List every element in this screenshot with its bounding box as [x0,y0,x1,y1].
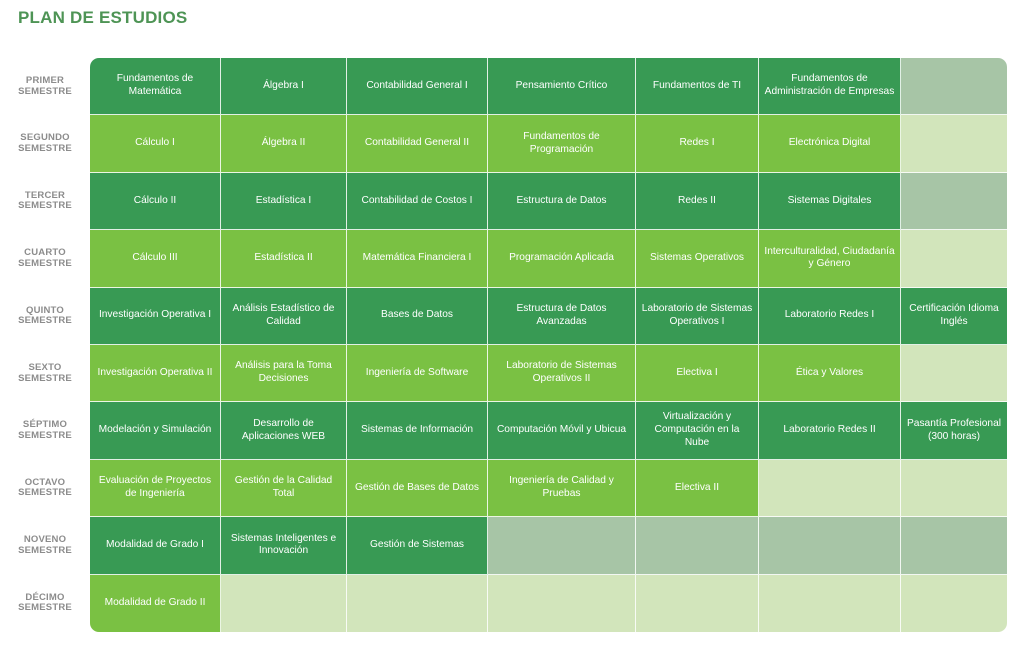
empty-cell [901,173,1007,230]
course-name: Análisis para la Toma Decisiones [226,360,341,386]
course-name: Estructura de Datos [516,195,606,208]
semester-row: SÉPTIMOSEMESTREModelación y SimulaciónDe… [0,402,1007,459]
semester-label: OCTAVOSEMESTRE [0,460,90,517]
course-cell[interactable]: Laboratorio Redes I [759,288,901,345]
semester-row: NOVENOSEMESTREModalidad de Grado ISistem… [0,517,1007,574]
course-name: Fundamentos de TI [653,80,741,93]
semester-courses: Evaluación de Proyectos de IngenieríaGes… [90,460,1007,517]
course-cell[interactable]: Ingeniería de Software [347,345,488,402]
course-cell[interactable]: Fundamentos de Programación [488,115,636,172]
semester-courses: Investigación Operativa IIAnálisis para … [90,345,1007,402]
curriculum-matrix: PRIMERSEMESTREFundamentos de MatemáticaÁ… [0,58,1024,634]
semester-row: SEGUNDOSEMESTRECálculo IÁlgebra IIContab… [0,115,1007,172]
semester-label-line2: SEMESTRE [18,488,72,499]
course-name: Pensamiento Crítico [516,80,608,93]
semester-courses: Cálculo IIIEstadística IIMatemática Fina… [90,230,1007,287]
course-cell[interactable]: Estadística II [221,230,347,287]
course-name: Laboratorio de Sistemas Operativos I [641,303,753,329]
course-name: Matemática Financiera I [363,252,472,265]
course-cell[interactable]: Ética y Valores [759,345,901,402]
empty-cell [759,517,901,574]
course-name: Pasantía Profesional (300 horas) [906,418,1002,444]
empty-cell [901,460,1007,517]
course-name: Sistemas de Información [361,424,473,437]
semester-label-line2: SEMESTRE [18,603,72,614]
course-cell[interactable]: Bases de Datos [347,288,488,345]
semester-row: TERCERSEMESTRECálculo IIEstadística ICon… [0,173,1007,230]
course-name: Álgebra II [262,137,306,150]
course-name: Análisis Estadístico de Calidad [226,303,341,329]
course-name: Laboratorio Redes II [783,424,875,437]
course-name: Ingeniería de Software [366,367,469,380]
course-cell[interactable]: Modelación y Simulación [90,402,221,459]
empty-cell [901,345,1007,402]
course-name: Computación Móvil y Ubicua [497,424,626,437]
semester-label: PRIMERSEMESTRE [0,58,90,115]
semester-label: SEGUNDOSEMESTRE [0,115,90,172]
course-cell[interactable]: Contabilidad General II [347,115,488,172]
course-name: Gestión de Sistemas [370,539,464,552]
semester-row: DÉCIMOSEMESTREModalidad de Grado II [0,575,1007,632]
course-name: Virtualización y Computación en la Nube [641,411,753,449]
semester-label-line2: SEMESTRE [18,316,72,327]
course-cell[interactable]: Desarrollo de Aplicaciones WEB [221,402,347,459]
semester-row: OCTAVOSEMESTREEvaluación de Proyectos de… [0,460,1007,517]
empty-cell [221,575,347,632]
semester-courses: Cálculo IÁlgebra IIContabilidad General … [90,115,1007,172]
course-name: Modalidad de Grado II [105,597,206,610]
course-name: Sistemas Inteligentes e Innovación [226,533,341,559]
course-cell[interactable]: Álgebra II [221,115,347,172]
course-name: Electrónica Digital [789,137,871,150]
course-cell[interactable]: Gestión de Sistemas [347,517,488,574]
semester-row: QUINTOSEMESTREInvestigación Operativa IA… [0,288,1007,345]
course-name: Fundamentos de Programación [493,131,630,157]
course-cell[interactable]: Gestión de la Calidad Total [221,460,347,517]
semester-label: SEXTOSEMESTRE [0,345,90,402]
course-name: Electiva II [675,482,719,495]
course-cell[interactable]: Investigación Operativa I [90,288,221,345]
semester-label: CUARTOSEMESTRE [0,230,90,287]
course-cell[interactable]: Estadística I [221,173,347,230]
course-name: Estadística I [256,195,312,208]
course-cell[interactable]: Cálculo II [90,173,221,230]
course-name: Evaluación de Proyectos de Ingeniería [95,475,215,501]
semester-label-line2: SEMESTRE [18,144,72,155]
course-cell[interactable]: Laboratorio de Sistemas Operativos I [636,288,759,345]
empty-cell [901,575,1007,632]
semester-label: SÉPTIMOSEMESTRE [0,402,90,459]
semester-courses: Fundamentos de MatemáticaÁlgebra IContab… [90,58,1007,115]
course-cell[interactable]: Modalidad de Grado II [90,575,221,632]
course-name: Estadística II [254,252,312,265]
course-cell[interactable]: Computación Móvil y Ubicua [488,402,636,459]
empty-cell [759,575,901,632]
semester-label: DÉCIMOSEMESTRE [0,575,90,632]
empty-cell [901,58,1007,115]
course-name: Redes II [678,195,716,208]
course-cell[interactable]: Redes II [636,173,759,230]
course-name: Electiva I [676,367,717,380]
semester-label: TERCERSEMESTRE [0,173,90,230]
course-name: Modalidad de Grado I [106,539,204,552]
course-name: Ingeniería de Calidad y Pruebas [493,475,630,501]
course-name: Laboratorio de Sistemas Operativos II [493,360,630,386]
course-name: Cálculo II [134,195,176,208]
course-name: Contabilidad General II [365,137,469,150]
course-cell[interactable]: Matemática Financiera I [347,230,488,287]
course-name: Contabilidad General I [366,80,467,93]
course-cell[interactable]: Interculturalidad, Ciudadanía y Género [759,230,901,287]
course-cell[interactable]: Electiva I [636,345,759,402]
course-name: Cálculo I [135,137,175,150]
semester-row: SEXTOSEMESTREInvestigación Operativa IIA… [0,345,1007,402]
course-name: Certificación Idioma Inglés [906,303,1002,329]
course-cell[interactable]: Electiva II [636,460,759,517]
semester-courses: Investigación Operativa IAnálisis Estadí… [90,288,1007,345]
course-cell[interactable]: Laboratorio de Sistemas Operativos II [488,345,636,402]
semester-label-line2: SEMESTRE [18,259,72,270]
course-cell[interactable]: Evaluación de Proyectos de Ingeniería [90,460,221,517]
course-cell[interactable]: Álgebra I [221,58,347,115]
course-name: Cálculo III [132,252,177,265]
course-cell[interactable]: Sistemas Inteligentes e Innovación [221,517,347,574]
course-cell[interactable]: Análisis Estadístico de Calidad [221,288,347,345]
empty-cell [901,517,1007,574]
course-cell[interactable]: Electrónica Digital [759,115,901,172]
course-cell[interactable]: Modalidad de Grado I [90,517,221,574]
course-name: Estructura de Datos Avanzadas [493,303,630,329]
course-name: Redes I [679,137,714,150]
course-name: Gestión de Bases de Datos [355,482,479,495]
course-cell[interactable]: Fundamentos de Matemática [90,58,221,115]
course-name: Álgebra I [263,80,304,93]
course-cell[interactable]: Contabilidad General I [347,58,488,115]
semester-label-line2: SEMESTRE [18,431,72,442]
course-cell[interactable]: Fundamentos de Administración de Empresa… [759,58,901,115]
course-cell[interactable]: Sistemas de Información [347,402,488,459]
page-title: PLAN DE ESTUDIOS [18,8,187,28]
course-name: Gestión de la Calidad Total [226,475,341,501]
empty-cell [636,517,759,574]
semester-row: CUARTOSEMESTRECálculo IIIEstadística IIM… [0,230,1007,287]
course-cell[interactable]: Pasantía Profesional (300 horas) [901,402,1007,459]
course-name: Sistemas Operativos [650,252,744,265]
semester-label: NOVENOSEMESTRE [0,517,90,574]
curriculum-plan-page: PLAN DE ESTUDIOS PRIMERSEMESTREFundament… [0,0,1024,660]
course-cell[interactable]: Gestión de Bases de Datos [347,460,488,517]
course-cell[interactable]: Pensamiento Crítico [488,58,636,115]
course-name: Bases de Datos [381,309,453,322]
course-cell[interactable]: Cálculo I [90,115,221,172]
course-name: Modelación y Simulación [99,424,212,437]
course-name: Investigación Operativa I [99,309,211,322]
course-name: Laboratorio Redes I [785,309,874,322]
empty-cell [901,230,1007,287]
course-cell[interactable]: Redes I [636,115,759,172]
semester-label-line2: SEMESTRE [18,374,72,385]
course-name: Sistemas Digitales [788,195,872,208]
course-name: Investigación Operativa II [98,367,213,380]
course-name: Desarrollo de Aplicaciones WEB [226,418,341,444]
course-cell[interactable]: Laboratorio Redes II [759,402,901,459]
course-cell[interactable]: Certificación Idioma Inglés [901,288,1007,345]
course-cell[interactable]: Ingeniería de Calidad y Pruebas [488,460,636,517]
course-name: Programación Aplicada [509,252,614,265]
course-cell[interactable]: Contabilidad de Costos I [347,173,488,230]
course-cell[interactable]: Fundamentos de TI [636,58,759,115]
semester-courses: Modelación y SimulaciónDesarrollo de Apl… [90,402,1007,459]
course-name: Ética y Valores [796,367,863,380]
course-cell[interactable]: Sistemas Digitales [759,173,901,230]
semester-courses: Modalidad de Grado ISistemas Inteligente… [90,517,1007,574]
course-cell[interactable]: Estructura de Datos Avanzadas [488,288,636,345]
course-cell[interactable]: Investigación Operativa II [90,345,221,402]
course-name: Fundamentos de Matemática [95,73,215,99]
course-name: Fundamentos de Administración de Empresa… [764,73,895,99]
semester-label-line2: SEMESTRE [18,546,72,557]
empty-cell [636,575,759,632]
semester-label-line2: SEMESTRE [18,87,72,98]
semester-row: PRIMERSEMESTREFundamentos de MatemáticaÁ… [0,58,1007,115]
course-cell[interactable]: Estructura de Datos [488,173,636,230]
semester-courses: Modalidad de Grado II [90,575,1007,632]
course-cell[interactable]: Análisis para la Toma Decisiones [221,345,347,402]
empty-cell [347,575,488,632]
semester-label: QUINTOSEMESTRE [0,288,90,345]
semester-courses: Cálculo IIEstadística IContabilidad de C… [90,173,1007,230]
course-cell[interactable]: Programación Aplicada [488,230,636,287]
course-cell[interactable]: Cálculo III [90,230,221,287]
empty-cell [488,575,636,632]
empty-cell [901,115,1007,172]
semester-label-line2: SEMESTRE [18,201,72,212]
course-cell[interactable]: Virtualización y Computación en la Nube [636,402,759,459]
course-cell[interactable]: Sistemas Operativos [636,230,759,287]
empty-cell [488,517,636,574]
empty-cell [759,460,901,517]
course-name: Contabilidad de Costos I [362,195,473,208]
course-name: Interculturalidad, Ciudadanía y Género [764,246,895,272]
